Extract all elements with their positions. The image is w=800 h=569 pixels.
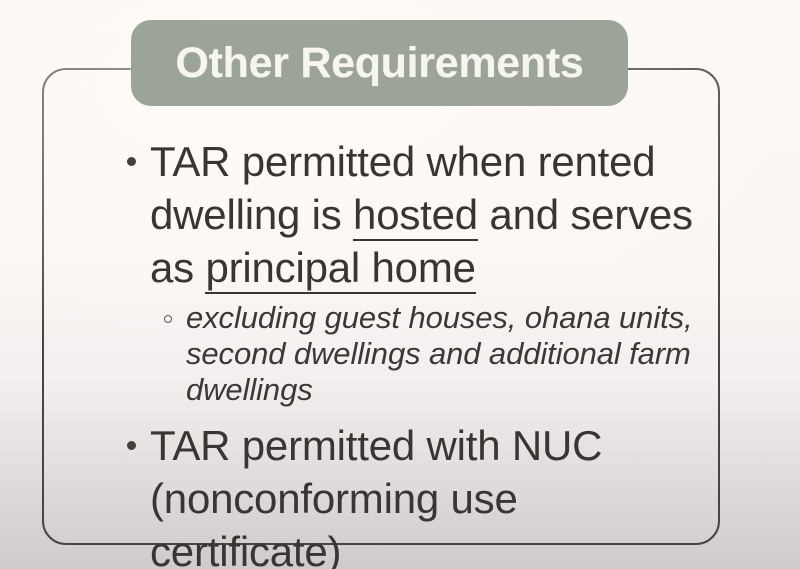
bullet-disc-icon	[127, 441, 136, 450]
list-item: TAR permitted with NUC (nonconforming us…	[120, 419, 720, 569]
presentation-slide: Other Requirements TAR permitted when re…	[0, 0, 800, 569]
bullet-1-underlined-hosted: hosted	[353, 191, 478, 241]
slide-title-banner: Other Requirements	[131, 20, 628, 106]
bullet-circle-icon	[164, 315, 172, 323]
bullet-1-underlined-principal-home: principal home	[205, 244, 475, 294]
sub-list-item: excluding guest houses, ohana units, sec…	[162, 300, 720, 408]
list-item: TAR permitted when rented dwelling is ho…	[120, 135, 720, 294]
slide-body: TAR permitted when rented dwelling is ho…	[42, 68, 720, 545]
list-item-text: TAR permitted with NUC (nonconforming us…	[150, 422, 602, 569]
bullet-disc-icon	[127, 157, 136, 166]
page-title: Other Requirements	[176, 42, 584, 85]
sub-bullet-list: excluding guest houses, ohana units, sec…	[120, 300, 720, 408]
bullet-list: TAR permitted when rented dwelling is ho…	[120, 135, 720, 569]
sub-list-item-text: excluding guest houses, ohana units, sec…	[186, 300, 693, 407]
list-item-text: TAR permitted when rented dwelling is ho…	[150, 138, 693, 294]
